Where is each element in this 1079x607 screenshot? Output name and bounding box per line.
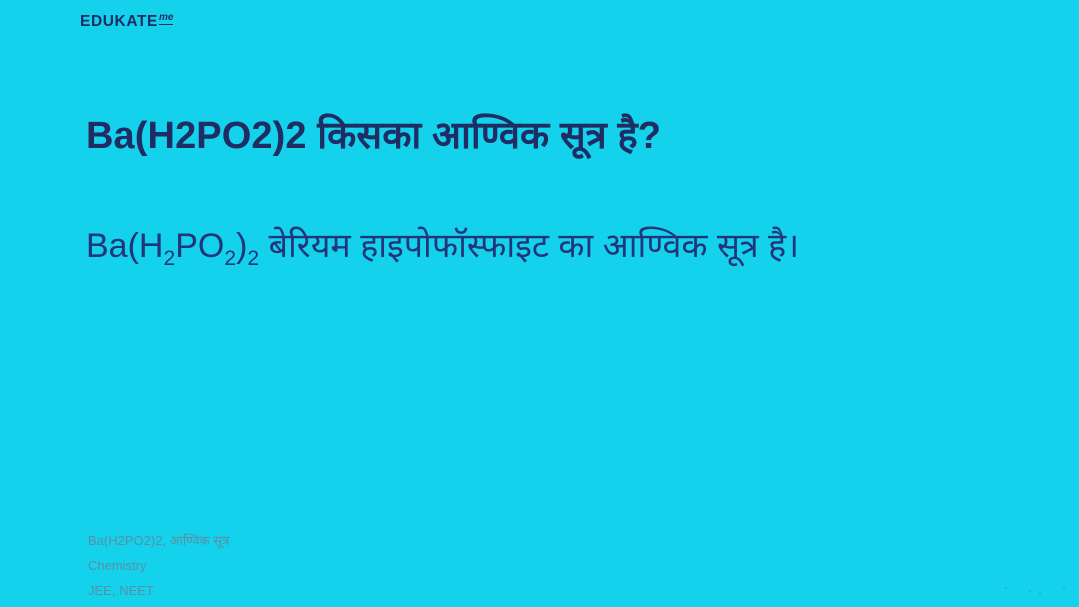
footer-exams: JEE, NEET <box>88 578 229 603</box>
slide-canvas: EDUKATE me Ba(H2PO2)2 किसका आण्विक सूत्र… <box>0 0 1079 607</box>
answer-text: Ba(H2PO2)2 बेरियम हाइपोफॉस्फाइट का आण्वि… <box>86 224 946 269</box>
answer-subscript-2: 2 <box>224 247 236 270</box>
answer-formula-mid: PO <box>175 227 224 265</box>
footer-subject: Chemistry <box>88 553 229 578</box>
brand-logo[interactable]: EDUKATE me <box>80 14 173 30</box>
answer-subscript-1: 2 <box>163 247 175 270</box>
answer-description: बेरियम हाइपोफॉस्फाइट का आण्विक सूत्र है। <box>259 227 799 265</box>
footer-meta: Ba(H2PO2)2, आण्विक सूत्र Chemistry JEE, … <box>88 528 229 603</box>
answer-formula-prefix: Ba(H <box>86 227 163 265</box>
brand-logo-word: EDUKATE <box>80 14 158 30</box>
answer-subscript-3: 2 <box>247 247 259 270</box>
footer-tags: Ba(H2PO2)2, आण्विक सूत्र <box>88 528 229 553</box>
question-title: Ba(H2PO2)2 किसका आण्विक सूत्र है? <box>86 113 996 161</box>
answer-formula-close: ) <box>236 227 247 265</box>
corner-watermark-icon <box>999 583 1073 597</box>
brand-logo-suffix: me <box>159 13 173 25</box>
